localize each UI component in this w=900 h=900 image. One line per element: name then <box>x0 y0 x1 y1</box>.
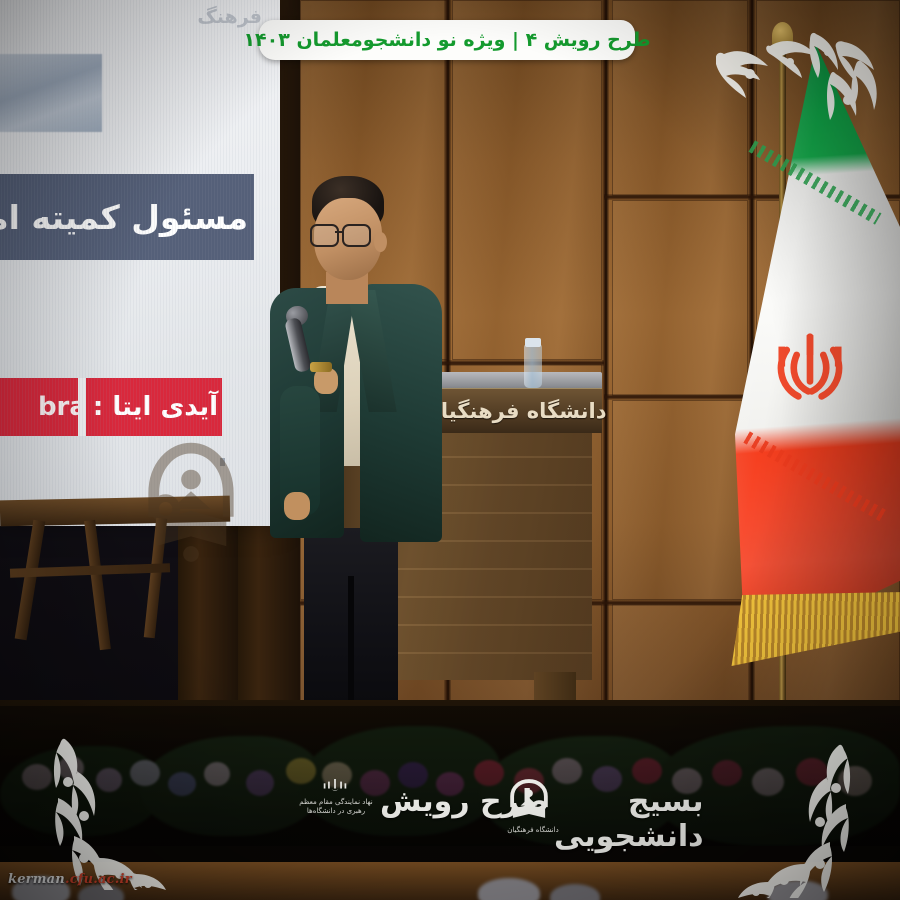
watermark-secondary: .cfu.ac.ir <box>65 872 132 887</box>
sponsor-logo-row: نهاد نمایندگی مقام معظم رهبری در دانشگاه… <box>296 772 626 838</box>
screen-red-bar-divider <box>78 378 86 436</box>
speaker-hand-holding-mic <box>284 492 310 520</box>
speaker-leg-gap <box>348 576 354 714</box>
water-bottle <box>524 344 542 388</box>
logo-ministry-of-education-subtext: نهاد نمایندگی مقام معظم رهبری در دانشگاه… <box>296 798 376 816</box>
logo-ministry-of-education: نهاد نمایندگی مقام معظم رهبری در دانشگاه… <box>296 778 376 834</box>
screen-red-contact-bar: bra آیدی ایتا : <box>0 378 222 436</box>
speaker-person <box>262 176 452 716</box>
water-bottle-cap <box>525 338 541 347</box>
screen-faint-text: فرهنگ <box>197 6 262 28</box>
logo-farhangian-university: دانشگاه فرهنگیان <box>506 776 560 834</box>
iran-flag-emblem-icon <box>768 330 852 408</box>
ornament-bottom-left <box>44 724 168 890</box>
farhangian-university-emblem-icon <box>142 436 240 574</box>
screen-blue-title-bar: مسئول کمیته امور <box>0 174 254 260</box>
header-banner-text: طرح رویش ۴ | ویژه نو دانشجومعلمان ۱۴۰۳ <box>243 29 650 51</box>
ornament-top-right <box>716 16 896 144</box>
site-watermark: kerman.cfu.ac.ir <box>8 872 132 887</box>
speaker-ear <box>374 232 387 252</box>
screen-red-bar-rtl-text: آیدی ایتا : <box>93 392 218 422</box>
wall-panel <box>612 200 748 396</box>
audience-head <box>478 878 540 900</box>
screen-photo-thumbnail <box>0 54 102 132</box>
watermark-primary: kerman <box>8 872 65 887</box>
wall-seam <box>602 0 609 716</box>
logo-basij-calligraphy: بسیج دانشجویی <box>554 784 704 854</box>
screen-blue-bar-text: مسئول کمیته امور <box>0 198 248 237</box>
screen-red-bar-ltr-text: bra <box>38 392 87 422</box>
wristwatch <box>310 362 332 372</box>
header-banner: طرح رویش ۴ | ویژه نو دانشجومعلمان ۱۴۰۳ <box>259 20 635 60</box>
ornament-bottom-right <box>730 730 860 898</box>
screenshot-root: فرهنگ مسئول کمیته امور bra آیدی ایتا : د… <box>0 0 900 900</box>
wall-panel <box>612 400 748 600</box>
eyeglasses-icon <box>310 224 372 244</box>
logo-farhangian-university-label: دانشگاه فرهنگیان <box>506 826 560 835</box>
audience-head <box>550 884 600 900</box>
